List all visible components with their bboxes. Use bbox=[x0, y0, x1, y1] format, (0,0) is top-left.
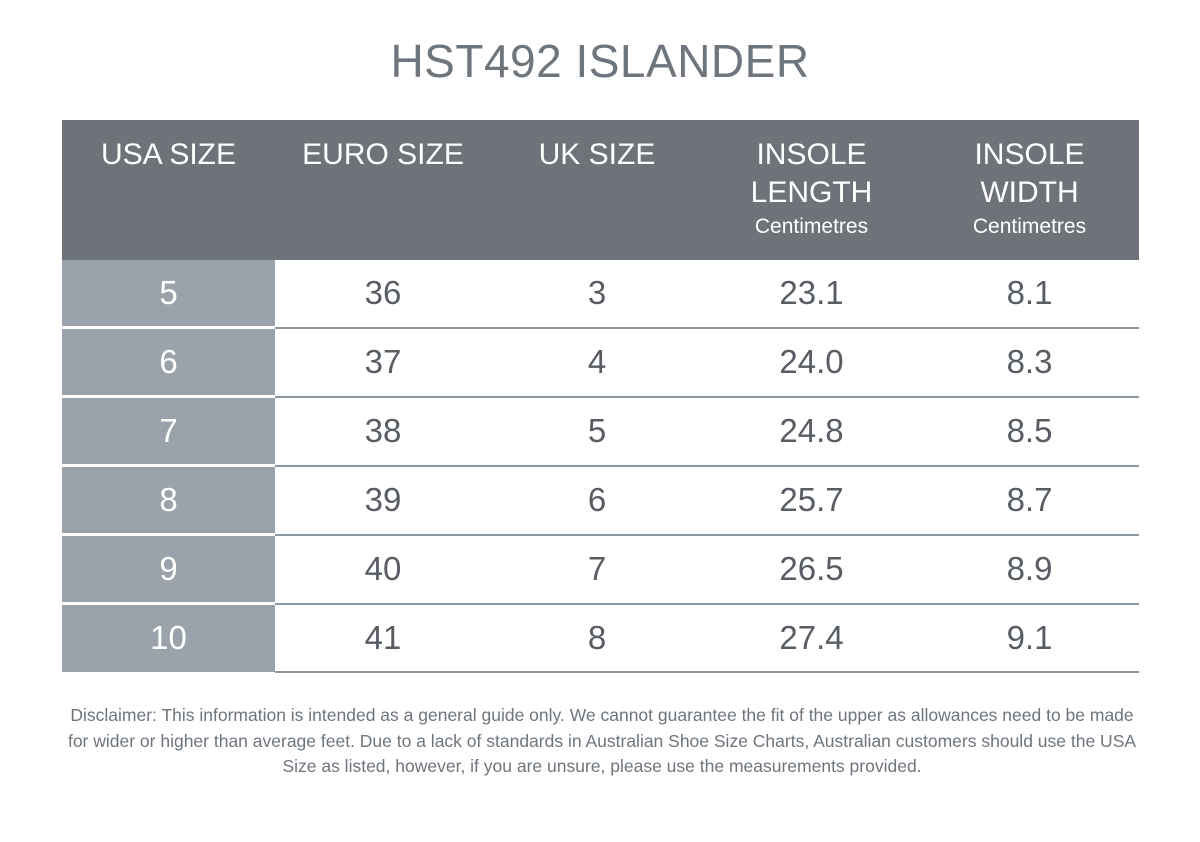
page-title: HST492 ISLANDER bbox=[0, 33, 1200, 89]
column-header-usa-size: USA SIZE bbox=[62, 120, 275, 260]
cell-euro-size: 40 bbox=[275, 535, 491, 604]
table-row: 9 40 7 26.5 8.9 bbox=[62, 535, 1139, 604]
column-header-uk-size: UK SIZE bbox=[491, 120, 703, 260]
size-chart-table: USA SIZE EURO SIZE UK SIZE INSOLELENGTH … bbox=[62, 120, 1139, 673]
cell-uk-size: 8 bbox=[491, 604, 703, 672]
column-header-uk-size-main: UK SIZE bbox=[495, 136, 699, 174]
cell-insole-length: 27.4 bbox=[703, 604, 920, 672]
cell-insole-length: 24.8 bbox=[703, 397, 920, 466]
cell-euro-size: 37 bbox=[275, 328, 491, 397]
cell-insole-length: 26.5 bbox=[703, 535, 920, 604]
cell-uk-size: 6 bbox=[491, 466, 703, 535]
cell-insole-length: 25.7 bbox=[703, 466, 920, 535]
cell-uk-size: 4 bbox=[491, 328, 703, 397]
cell-usa-size: 10 bbox=[62, 604, 275, 672]
column-header-insole-length: INSOLELENGTH Centimetres bbox=[703, 120, 920, 260]
size-chart-page: HST492 ISLANDER USA SIZE EURO SIZE UK SI… bbox=[0, 0, 1200, 842]
cell-insole-width: 8.1 bbox=[920, 260, 1139, 328]
cell-insole-length: 23.1 bbox=[703, 260, 920, 328]
column-header-insole-length-main: INSOLELENGTH bbox=[707, 136, 916, 212]
column-header-insole-width: INSOLEWIDTH Centimetres bbox=[920, 120, 1139, 260]
cell-euro-size: 38 bbox=[275, 397, 491, 466]
table-row: 6 37 4 24.0 8.3 bbox=[62, 328, 1139, 397]
cell-euro-size: 41 bbox=[275, 604, 491, 672]
disclaimer-text: Disclaimer: This information is intended… bbox=[60, 703, 1144, 780]
column-header-euro-size-main: EURO SIZE bbox=[279, 136, 487, 174]
column-header-usa-size-main: USA SIZE bbox=[66, 136, 271, 174]
cell-insole-width: 8.3 bbox=[920, 328, 1139, 397]
header-row: USA SIZE EURO SIZE UK SIZE INSOLELENGTH … bbox=[62, 120, 1139, 260]
cell-usa-size: 6 bbox=[62, 328, 275, 397]
cell-euro-size: 36 bbox=[275, 260, 491, 328]
cell-uk-size: 5 bbox=[491, 397, 703, 466]
table-row: 8 39 6 25.7 8.7 bbox=[62, 466, 1139, 535]
cell-insole-length: 24.0 bbox=[703, 328, 920, 397]
cell-insole-width: 8.5 bbox=[920, 397, 1139, 466]
column-header-insole-length-sub: Centimetres bbox=[707, 212, 916, 242]
table-row: 7 38 5 24.8 8.5 bbox=[62, 397, 1139, 466]
cell-insole-width: 8.9 bbox=[920, 535, 1139, 604]
table-header: USA SIZE EURO SIZE UK SIZE INSOLELENGTH … bbox=[62, 120, 1139, 260]
cell-insole-width: 9.1 bbox=[920, 604, 1139, 672]
cell-usa-size: 8 bbox=[62, 466, 275, 535]
table-row: 5 36 3 23.1 8.1 bbox=[62, 260, 1139, 328]
column-header-insole-width-main: INSOLEWIDTH bbox=[924, 136, 1135, 212]
cell-euro-size: 39 bbox=[275, 466, 491, 535]
cell-usa-size: 9 bbox=[62, 535, 275, 604]
column-header-euro-size: EURO SIZE bbox=[275, 120, 491, 260]
cell-usa-size: 7 bbox=[62, 397, 275, 466]
column-header-insole-width-sub: Centimetres bbox=[924, 212, 1135, 242]
cell-usa-size: 5 bbox=[62, 260, 275, 328]
cell-uk-size: 3 bbox=[491, 260, 703, 328]
cell-uk-size: 7 bbox=[491, 535, 703, 604]
table-row: 10 41 8 27.4 9.1 bbox=[62, 604, 1139, 672]
table-body: 5 36 3 23.1 8.1 6 37 4 24.0 8.3 7 38 5 2… bbox=[62, 260, 1139, 672]
cell-insole-width: 8.7 bbox=[920, 466, 1139, 535]
